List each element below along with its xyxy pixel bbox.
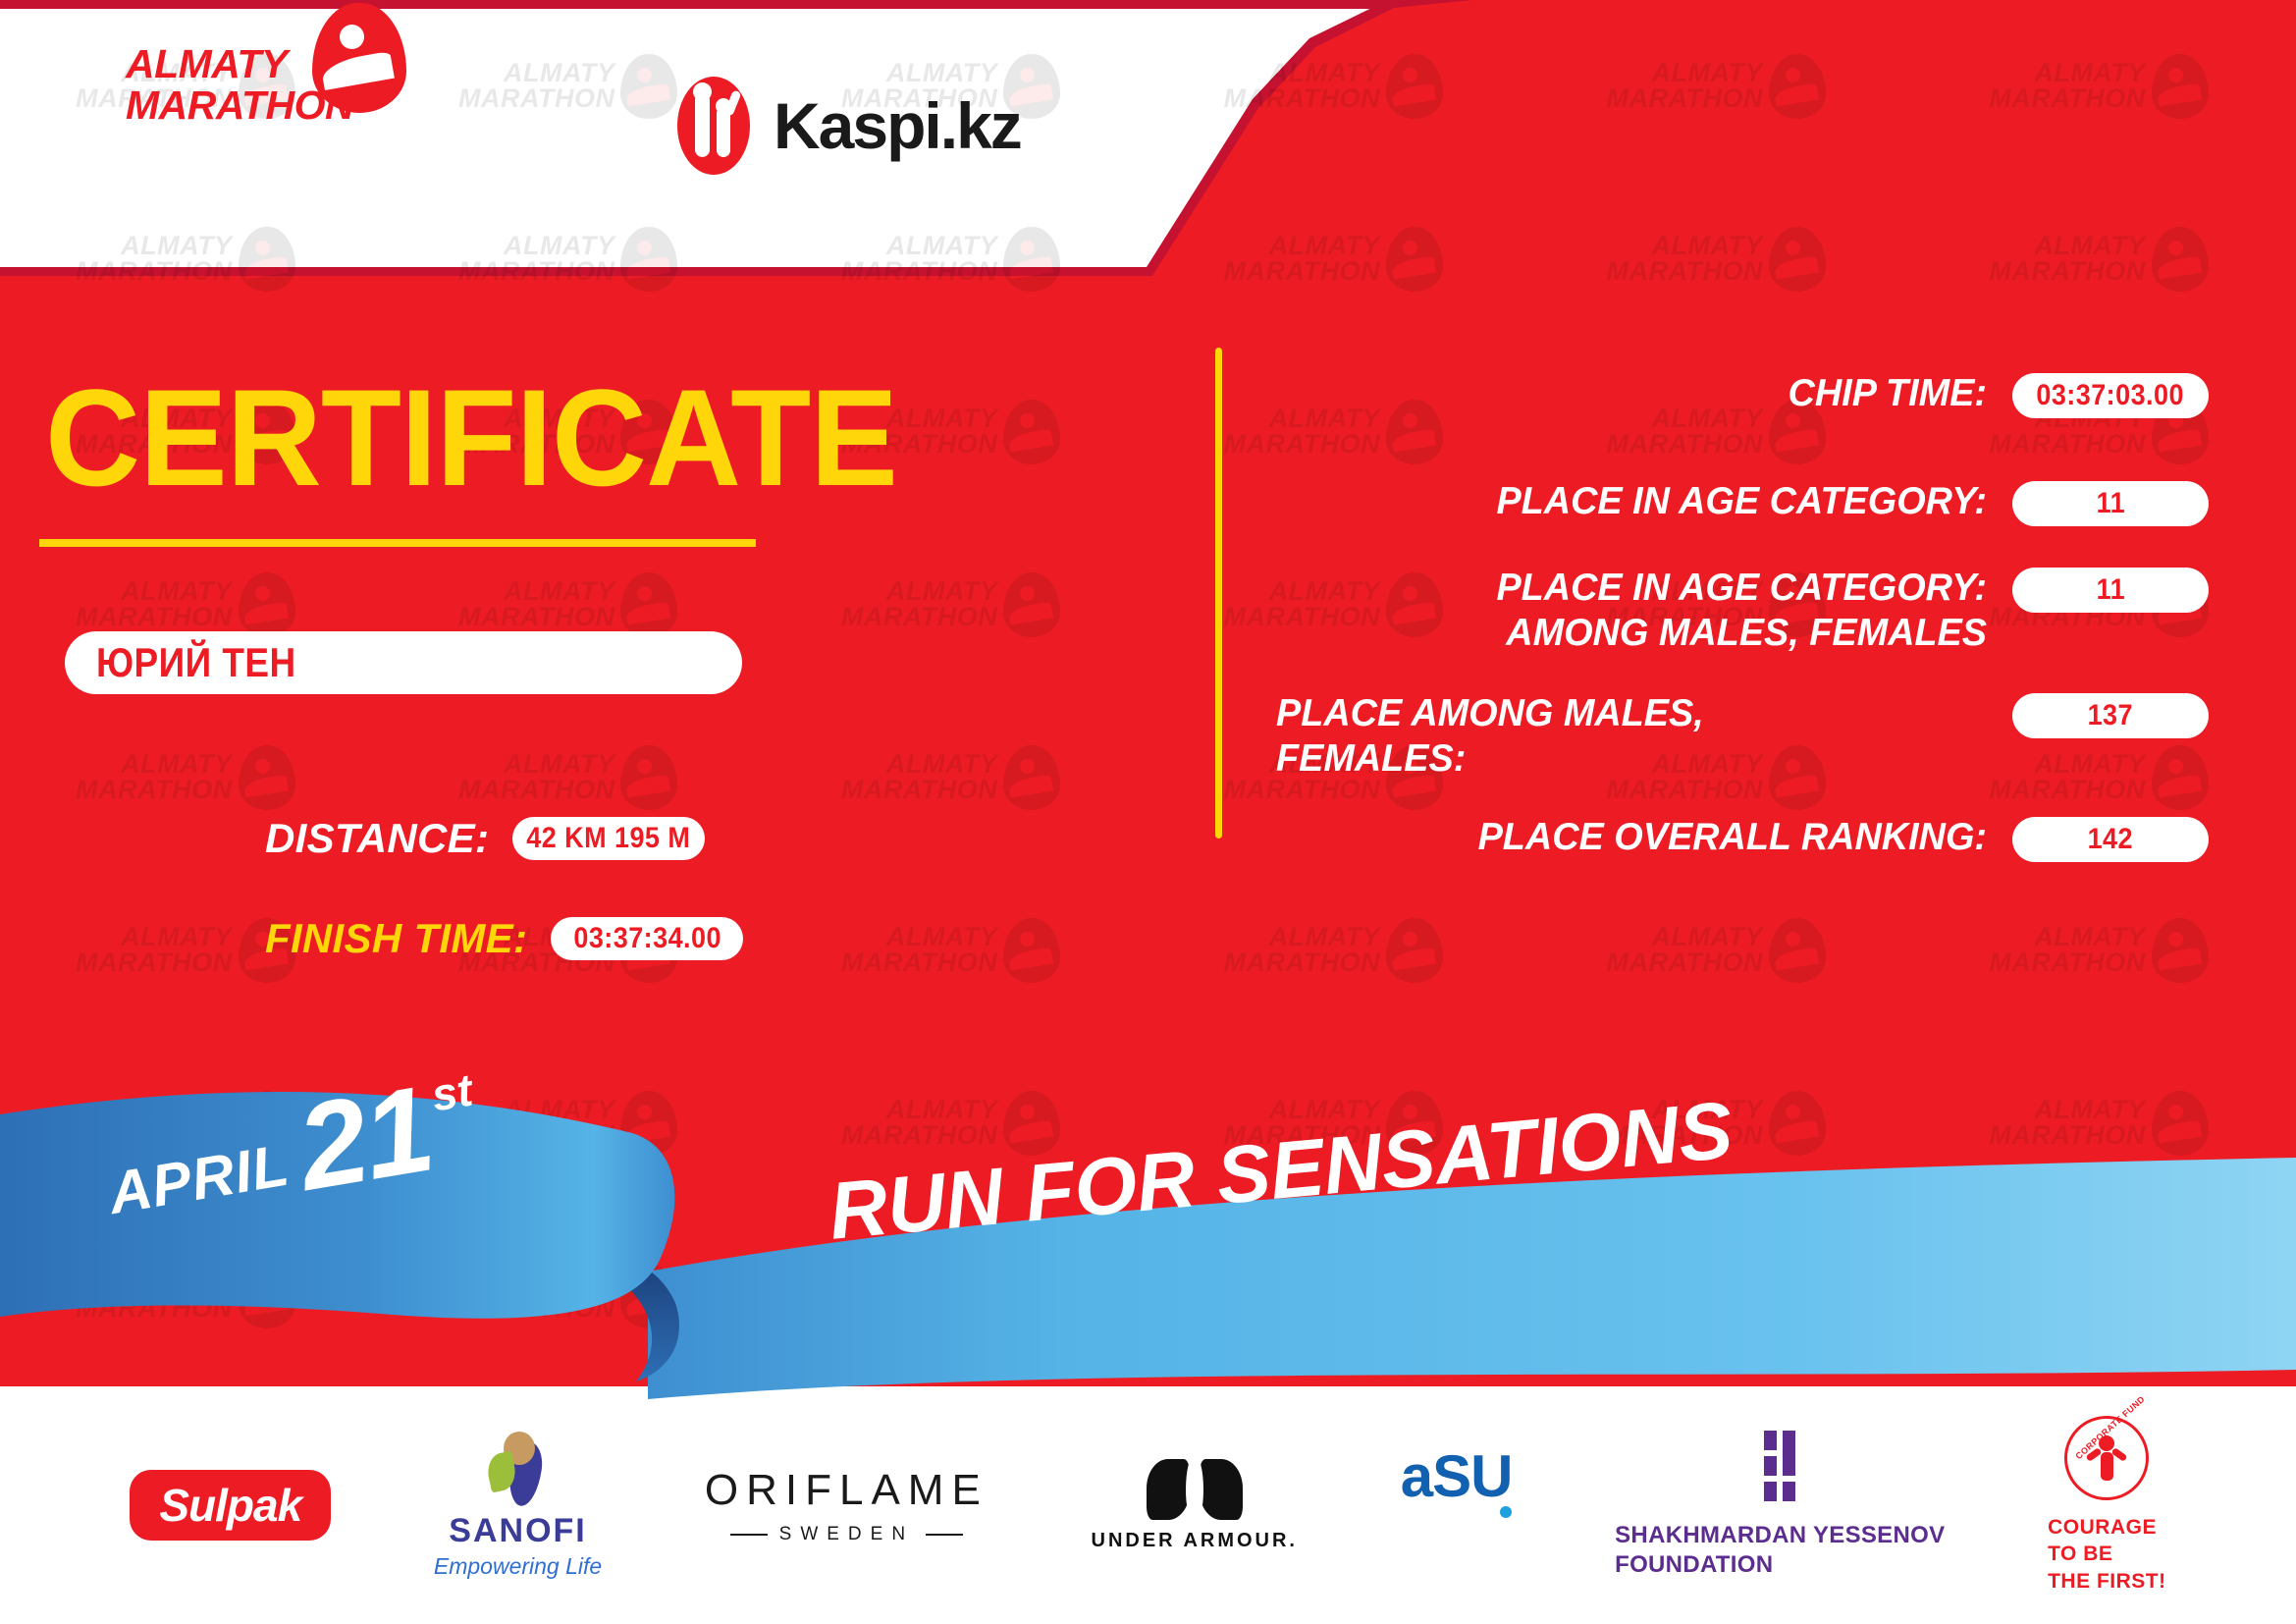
results-stats-list: CHIP TIME: 03:37:03.00 PLACE IN AGE CATE… xyxy=(1276,371,2209,903)
sponsor-oriflame: ORIFLAME SWEDEN xyxy=(705,1466,988,1545)
sponsor-corporate-fund: CORPORATE FUND COURAGE TO BE THE FIRST! xyxy=(2048,1416,2166,1595)
under-armour-logo-text: UNDER ARMOUR. xyxy=(1092,1530,1298,1552)
figure-body-icon xyxy=(2101,1452,2113,1481)
kaspi-people-icon xyxy=(677,77,750,175)
sponsor-strip: Sulpak SANOFI Empowering Life ORIFLAME S… xyxy=(0,1386,2296,1624)
distance-value: 42 KM 195 M xyxy=(527,822,691,855)
yessenov-bars-col-1 xyxy=(1764,1431,1777,1501)
place-overall-value: 142 xyxy=(2088,823,2133,856)
certificate-header: ALMATY MARATHON Kaspi.kz xyxy=(0,0,1374,276)
sanofi-icon xyxy=(486,1432,551,1508)
finish-time-value: 03:37:34.00 xyxy=(573,922,721,955)
place-age-category-gender-value-pill: 11 xyxy=(2012,568,2209,613)
sponsor-asu: aSU xyxy=(1401,1447,1513,1563)
athlete-name-value: ЮРИЙ ТЕН xyxy=(96,639,296,686)
chip-time-label: CHIP TIME: xyxy=(1298,371,1987,416)
place-age-category-gender-label: PLACE IN AGE CATEGORY: AMONG MALES, FEMA… xyxy=(1298,566,1987,656)
runner-drop-icon xyxy=(312,3,406,113)
corporate-fund-line-1: COURAGE xyxy=(2048,1514,2166,1541)
place-among-gender-value-pill: 137 xyxy=(2012,693,2209,738)
title-underline xyxy=(39,539,756,547)
yessenov-line-1: SHAKHMARDAN YESSENOV xyxy=(1615,1521,1945,1550)
sponsor-under-armour: UNDER ARMOUR. xyxy=(1092,1459,1298,1552)
stat-row-place-age-category: PLACE IN AGE CATEGORY: 11 xyxy=(1276,479,2209,526)
place-age-category-gender-value: 11 xyxy=(2096,573,2124,607)
sulpak-logo-text: Sulpak xyxy=(130,1470,331,1541)
almaty-marathon-logo: ALMATY MARATHON xyxy=(126,44,406,127)
place-overall-value-pill: 142 xyxy=(2012,817,2209,862)
corporate-fund-figure-icon xyxy=(2090,1435,2123,1481)
oriflame-rule-left xyxy=(730,1534,768,1536)
corporate-fund-line-2: TO BE xyxy=(2048,1541,2166,1567)
kaspi-head-large-icon xyxy=(693,82,712,101)
place-age-category-value-pill: 11 xyxy=(2012,481,2209,526)
yessenov-line-2: FOUNDATION xyxy=(1615,1550,1945,1580)
chip-time-value-pill: 03:37:03.00 xyxy=(2012,373,2209,418)
distance-value-pill: 42 KM 195 M xyxy=(512,817,705,860)
asu-logo-text: aSU xyxy=(1401,1447,1513,1506)
figure-arm-right-icon xyxy=(2111,1447,2128,1462)
yessenov-bar xyxy=(1764,1482,1777,1501)
stat-row-place-among-gender: PLACE AMONG MALES, FEMALES: 137 xyxy=(1276,691,2209,782)
oriflame-sub-row: SWEDEN xyxy=(730,1524,963,1545)
under-armour-icon-left xyxy=(1147,1459,1190,1520)
under-armour-icon xyxy=(1147,1459,1243,1520)
yessenov-bar xyxy=(1764,1431,1777,1450)
sponsor-sanofi: SANOFI Empowering Life xyxy=(434,1432,602,1580)
oriflame-logo-text: ORIFLAME xyxy=(705,1466,988,1515)
oriflame-rule-right xyxy=(926,1534,963,1536)
oriflame-sub-text: SWEDEN xyxy=(779,1524,914,1545)
place-overall-label: PLACE OVERALL RANKING: xyxy=(1298,815,1987,860)
yessenov-bar xyxy=(1783,1431,1795,1476)
column-divider xyxy=(1215,348,1222,839)
finish-time-row: FINISH TIME: 03:37:34.00 xyxy=(265,915,743,962)
finish-time-value-pill: 03:37:34.00 xyxy=(551,917,743,960)
athlete-name-field: ЮРИЙ ТЕН xyxy=(65,631,742,694)
yessenov-bars-col-2 xyxy=(1783,1431,1795,1501)
corporate-fund-icon: CORPORATE FUND xyxy=(2064,1416,2149,1500)
distance-label: DISTANCE: xyxy=(265,815,489,862)
under-armour-icon-right xyxy=(1200,1459,1243,1520)
sanofi-tagline: Empowering Life xyxy=(434,1553,602,1580)
corporate-fund-line-3: THE FIRST! xyxy=(2048,1568,2166,1595)
place-age-category-label: PLACE IN AGE CATEGORY: xyxy=(1298,479,1987,524)
place-among-gender-label: PLACE AMONG MALES, FEMALES: xyxy=(1276,691,1965,782)
stat-row-chip-time: CHIP TIME: 03:37:03.00 xyxy=(1276,371,2209,418)
yessenov-bar xyxy=(1764,1456,1777,1476)
certificate-canvas: ALMATYMARATHONALMATYMARATHONALMATYMARATH… xyxy=(0,0,2296,1624)
kaspi-logo: Kaspi.kz xyxy=(677,77,1021,175)
chip-time-value: 03:37:03.00 xyxy=(2037,379,2185,412)
page-title: CERTIFICATE xyxy=(45,369,897,507)
yessenov-bars-icon xyxy=(1764,1431,1795,1501)
yessenov-bar xyxy=(1783,1482,1795,1501)
kaspi-logo-text: Kaspi.kz xyxy=(774,93,1021,158)
sponsor-sulpak: Sulpak xyxy=(130,1470,331,1541)
sanofi-logo-text: SANOFI xyxy=(449,1512,586,1550)
corporate-fund-logo-text: COURAGE TO BE THE FIRST! xyxy=(2048,1514,2166,1595)
sponsor-yessenov-foundation: SHAKHMARDAN YESSENOV FOUNDATION xyxy=(1615,1431,1945,1580)
yessenov-logo-text: SHAKHMARDAN YESSENOV FOUNDATION xyxy=(1615,1521,1945,1580)
place-among-gender-value: 137 xyxy=(2088,699,2133,732)
finish-time-label: FINISH TIME: xyxy=(265,915,527,962)
under-armour-icon-gap xyxy=(1186,1455,1203,1524)
stat-row-place-age-category-gender: PLACE IN AGE CATEGORY: AMONG MALES, FEMA… xyxy=(1276,566,2209,656)
asu-dot-icon xyxy=(1500,1506,1512,1518)
event-day: 21 xyxy=(292,1077,438,1201)
place-age-category-value: 11 xyxy=(2096,487,2124,520)
distance-row: DISTANCE: 42 KM 195 M xyxy=(265,815,705,862)
stat-row-place-overall: PLACE OVERALL RANKING: 142 xyxy=(1276,815,2209,862)
